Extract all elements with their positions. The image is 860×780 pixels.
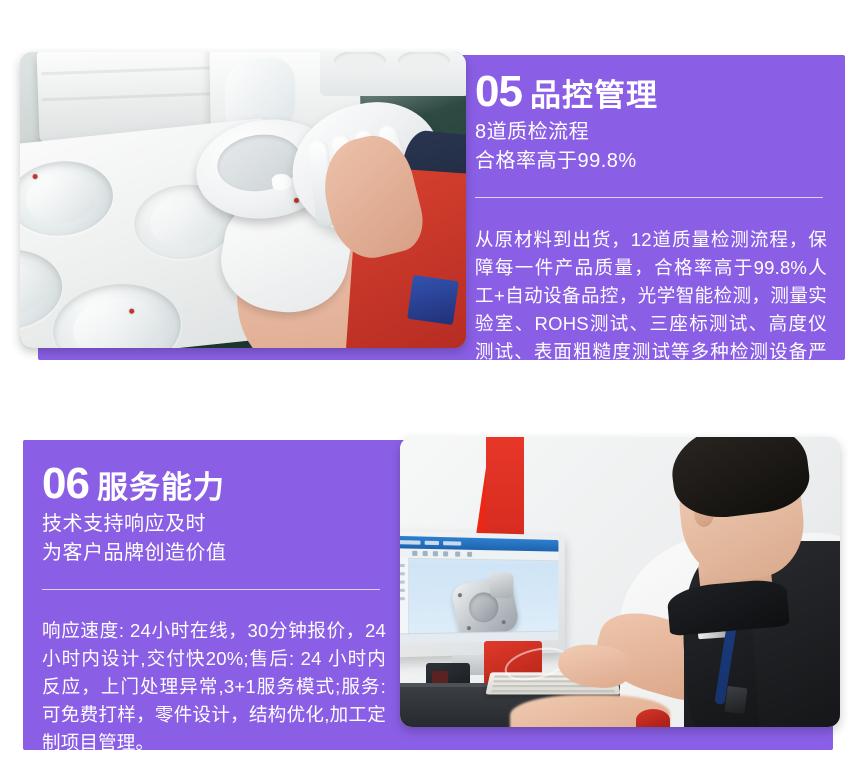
- card-05-body-text: 从原材料到出货，12道质量检测流程，保障每一件产品质量，合格率高于99.8%人工…: [475, 226, 827, 422]
- card-05-number: 05: [475, 70, 522, 114]
- card-06-divider: [42, 589, 380, 590]
- card-06-heading-block: 06 服务能力 技术支持响应及时 为客户品牌创造价值: [42, 462, 382, 568]
- card-06-body-text: 响应速度: 24小时在线，30分钟报价，24小时内设计,交付快20%;售后: 2…: [42, 617, 386, 757]
- card-05-subtitle: 8道质检流程 合格率高于99.8%: [475, 118, 825, 176]
- card-05-divider: [475, 197, 823, 198]
- card-05-photo: [20, 52, 466, 348]
- card-06-heading-row: 06 服务能力: [42, 462, 382, 510]
- card-06-subtitle: 技术支持响应及时 为客户品牌创造价值: [42, 510, 382, 568]
- card-06-photo: [400, 437, 840, 727]
- promo-page: 05 品控管理 8道质检流程 合格率高于99.8% 从原材料到出货，12道质量检…: [0, 0, 860, 780]
- engineer-cad-illustration: [400, 437, 840, 727]
- card-05-heading-block: 05 品控管理 8道质检流程 合格率高于99.8%: [475, 70, 825, 176]
- card-06-title: 服务能力: [97, 466, 225, 510]
- card-05-heading-row: 05 品控管理: [475, 70, 825, 118]
- card-05-title: 品控管理: [530, 74, 658, 118]
- card-06-number: 06: [42, 462, 89, 506]
- qc-inspection-illustration: [20, 52, 466, 348]
